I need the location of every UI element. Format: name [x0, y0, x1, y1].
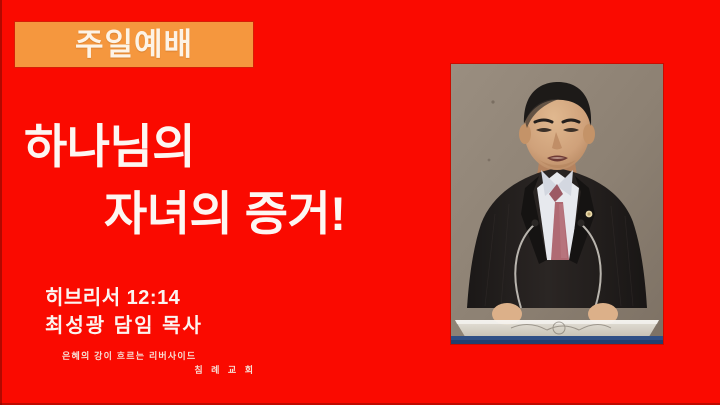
scripture-reference: 히브리서 12:14	[45, 286, 203, 310]
church-name: 침 례 교 회	[62, 364, 272, 378]
speaker-photo	[451, 64, 663, 344]
service-type-banner: 주일예배	[15, 22, 253, 67]
sermon-title-line-2: 자녀의 증거!	[104, 189, 430, 240]
sermon-title-line-1: 하나님의	[24, 122, 430, 173]
scripture-and-preacher: 히브리서 12:14 최성광 담임 목사	[45, 286, 203, 338]
church-tagline: 은혜의 강이 흐르는 리버사이드	[62, 350, 272, 364]
service-type-label: 주일예배	[75, 29, 193, 60]
speaker-photo-illustration	[451, 64, 663, 344]
sermon-title-slide: 주일예배 하나님의 자녀의 증거! 히브리서 12:14 최성광 담임 목사 은…	[0, 0, 720, 405]
church-identity: 은혜의 강이 흐르는 리버사이드 침 례 교 회	[62, 350, 272, 377]
preacher-name: 최성광 담임 목사	[45, 314, 203, 338]
sermon-title: 하나님의 자녀의 증거!	[0, 122, 430, 240]
